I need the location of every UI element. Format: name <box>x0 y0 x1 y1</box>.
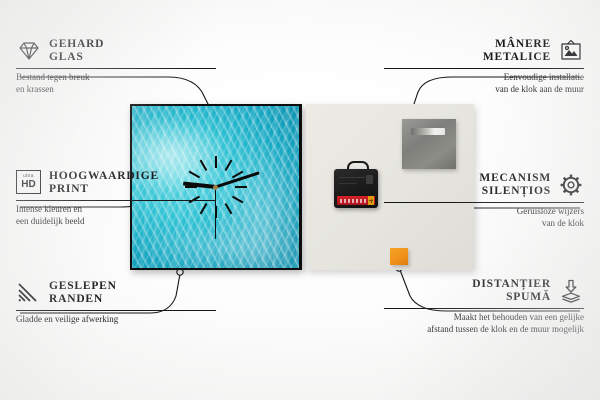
callout-manere-metalice: MÂNERE METALICE Eenvoudige installatie v… <box>384 36 584 95</box>
mechanism-knob <box>366 175 373 184</box>
callout-header: MÂNERE METALICE <box>384 36 584 66</box>
callout-distantier-spuma: DISTANȚIER SPUMĂ Maakt het behouden van … <box>384 276 584 335</box>
callout-description: Bestand tegen breuk en krassen <box>16 72 216 95</box>
callout-divider <box>16 68 216 69</box>
callout-divider <box>384 68 584 69</box>
callout-title: MÂNERE METALICE <box>483 38 551 64</box>
battery-plus-terminal <box>368 196 374 205</box>
callout-title: MECANISM SILENȚIOS <box>479 172 551 198</box>
callout-hoogwaardige-print: ultra HD HOOGWAARDIGE PRINT Intense kleu… <box>16 168 216 227</box>
callout-geslepen-randen: GESLEPEN RANDEN Gladde en veilige afwerk… <box>16 278 216 326</box>
layers-down-arrow-icon <box>558 278 584 304</box>
beveled-edge-icon <box>16 280 42 306</box>
callout-divider <box>384 308 584 309</box>
callout-mecanism-silentios: MECANISM SILENȚIOS <box>384 170 584 229</box>
callout-description: Intense kleuren en een duidelijk beeld <box>16 204 216 227</box>
callout-title: HOOGWAARDIGE PRINT <box>49 170 159 196</box>
metal-hanger-part <box>402 119 456 169</box>
ultra-hd-icon-main-text: HD <box>21 180 35 190</box>
foam-spacer-part <box>390 248 408 265</box>
clock-mechanism-part <box>334 166 378 208</box>
callout-gehard-glas: GEHARD GLAS Bestand tegen breuk en krass… <box>16 36 216 95</box>
callout-description: Maakt het behouden van een gelijke afsta… <box>384 312 584 335</box>
diamond-icon <box>16 38 42 64</box>
mechanism-seam <box>339 177 365 178</box>
mechanism-seam <box>339 183 357 184</box>
battery-label <box>340 199 366 203</box>
gear-icon <box>558 172 584 198</box>
mechanism-body <box>334 169 378 208</box>
callout-header: MECANISM SILENȚIOS <box>384 170 584 200</box>
callout-header: GESLEPEN RANDEN <box>16 278 216 308</box>
callout-description: Geruisloze wijzers van de klok <box>384 206 584 229</box>
battery-part <box>337 196 375 205</box>
callout-divider <box>16 310 216 311</box>
callout-header: ultra HD HOOGWAARDIGE PRINT <box>16 168 216 198</box>
callout-header: GEHARD GLAS <box>16 36 216 66</box>
callout-title: DISTANȚIER SPUMĂ <box>472 278 551 304</box>
callout-divider <box>384 202 584 203</box>
picture-frame-hanger-icon <box>558 38 584 64</box>
callout-description: Gladde en veilige afwerking <box>16 314 216 326</box>
infographic-canvas: GEHARD GLAS Bestand tegen breuk en krass… <box>0 0 600 400</box>
callout-header: DISTANȚIER SPUMĂ <box>384 276 584 306</box>
callout-title: GEHARD GLAS <box>49 38 104 64</box>
callout-description: Eenvoudige installatie van de klok aan d… <box>384 72 584 95</box>
callout-divider <box>16 200 216 201</box>
hanger-slot <box>411 128 445 135</box>
ultra-hd-icon: ultra HD <box>16 170 42 196</box>
callout-title: GESLEPEN RANDEN <box>49 280 117 306</box>
